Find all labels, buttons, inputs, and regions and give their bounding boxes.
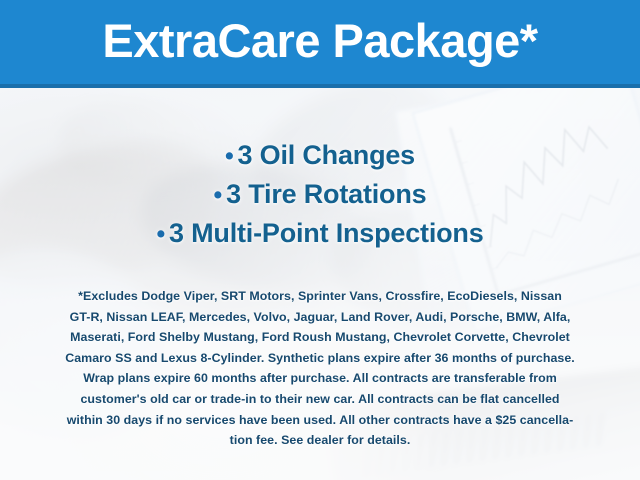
- disclaimer-line: Wrap plans expire 60 months after purcha…: [38, 368, 602, 389]
- benefit-item-label: 3 Oil Changes: [238, 140, 415, 170]
- disclaimer-text: *Excludes Dodge Viper, SRT Motors, Sprin…: [38, 286, 602, 451]
- header-banner: ExtraCare Package*: [0, 0, 640, 88]
- benefit-item-label: 3 Multi-Point Inspections: [169, 218, 484, 248]
- bullet-dot-icon: •: [225, 142, 238, 170]
- disclaimer-line: customer's old car or trade-in to their …: [38, 389, 602, 410]
- disclaimer-line: GT-R, Nissan LEAF, Mercedes, Volvo, Jagu…: [38, 307, 602, 328]
- benefits-list: •3 Oil Changes •3 Tire Rotations •3 Mult…: [0, 136, 640, 253]
- disclaimer-line: Camaro SS and Lexus 8-Cylinder. Syntheti…: [38, 348, 602, 369]
- disclaimer-line: within 30 days if no services have been …: [38, 410, 602, 431]
- benefit-item-oil-changes: •3 Oil Changes: [0, 136, 640, 175]
- bullet-dot-icon: •: [156, 220, 169, 248]
- benefit-item-multi-point-inspections: •3 Multi-Point Inspections: [0, 214, 640, 253]
- benefit-item-tire-rotations: •3 Tire Rotations: [0, 175, 640, 214]
- bullet-dot-icon: •: [214, 181, 227, 209]
- disclaimer-line: *Excludes Dodge Viper, SRT Motors, Sprin…: [38, 286, 602, 307]
- page-title: ExtraCare Package*: [102, 17, 537, 68]
- disclaimer-line: tion fee. See dealer for details.: [38, 430, 602, 451]
- benefit-item-label: 3 Tire Rotations: [226, 179, 426, 209]
- disclaimer-line: Maserati, Ford Shelby Mustang, Ford Rous…: [38, 327, 602, 348]
- extracare-package-promo-card: ExtraCare Package* •3 Oil Changes •3 Tir…: [0, 0, 640, 480]
